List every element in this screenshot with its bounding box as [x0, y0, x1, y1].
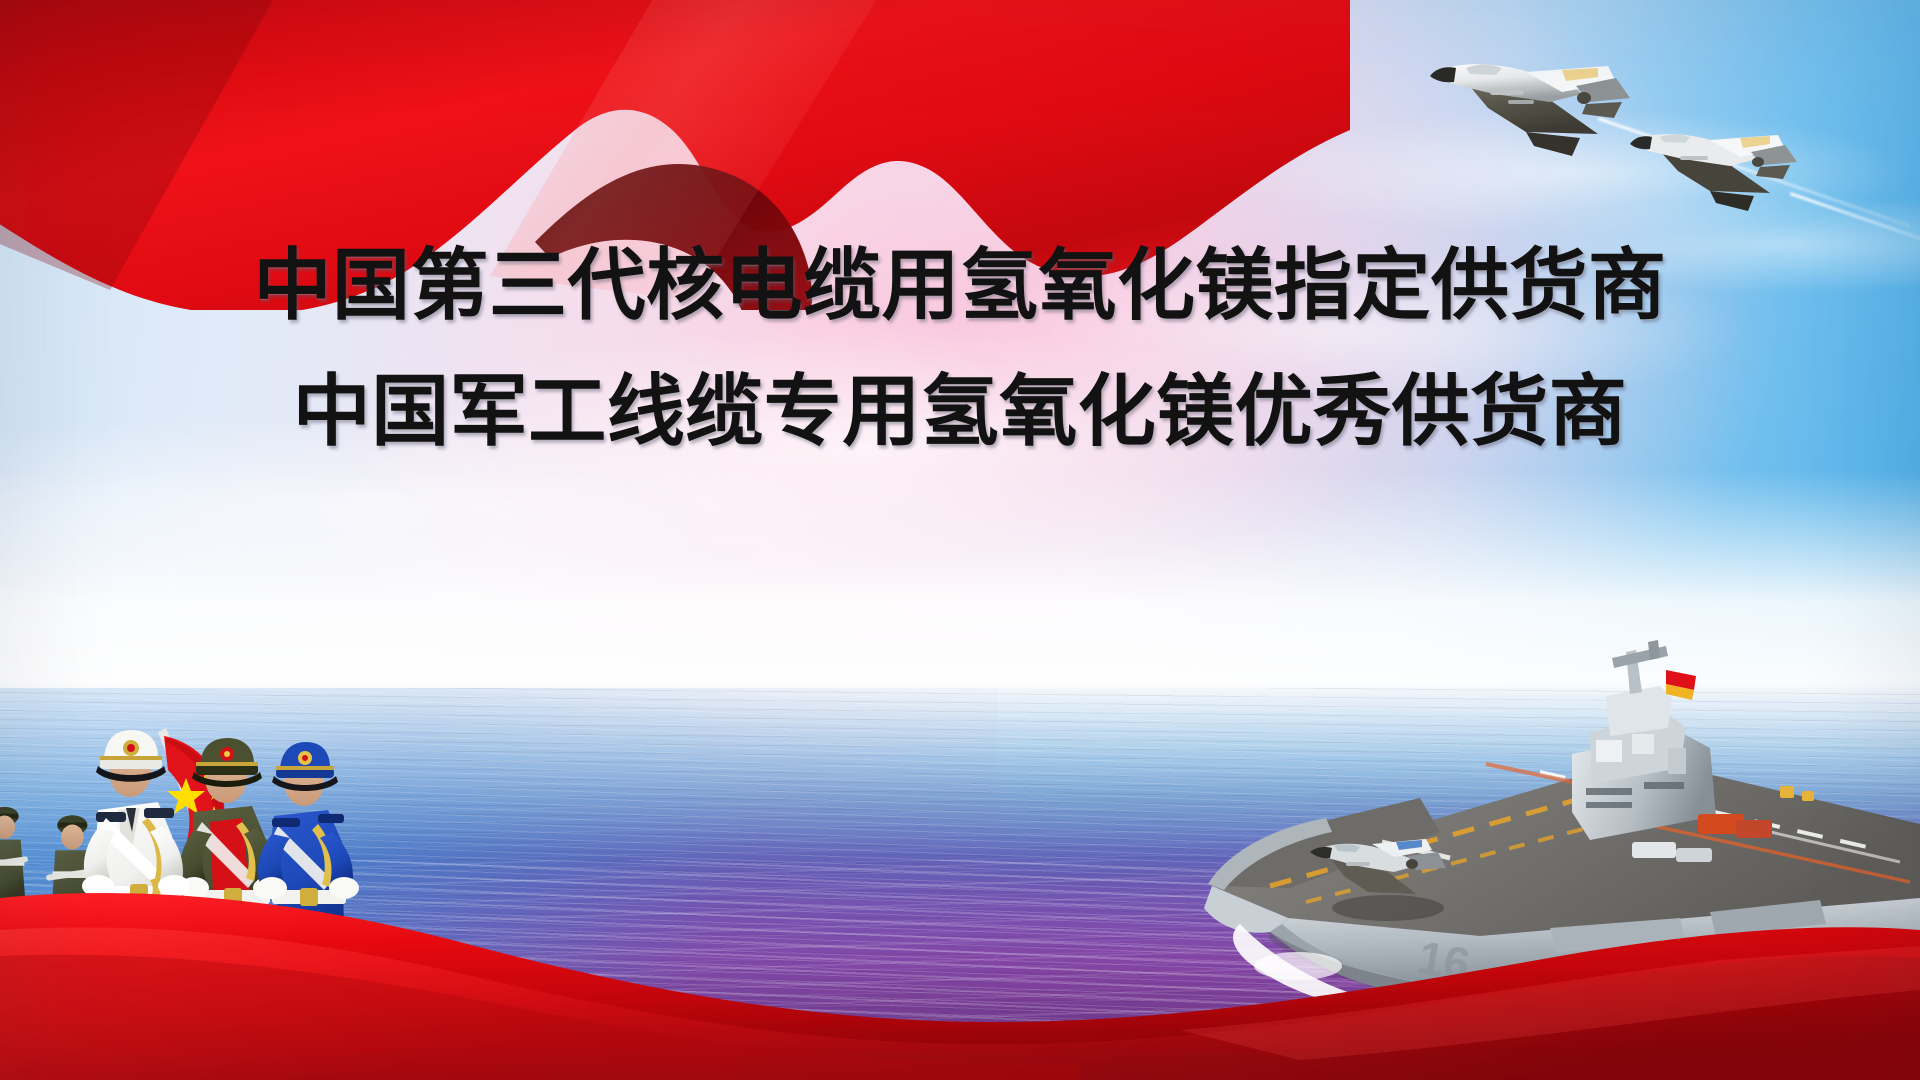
title-line-1: 中国第三代核电缆用氢氧化镁指定供货商: [0, 246, 1920, 324]
title-line-2: 中国军工线缆专用氢氧化镁优秀供货商: [0, 372, 1920, 450]
navy-officer-white-uniform: [82, 730, 190, 1070]
promotional-banner: 16: [0, 0, 1920, 1080]
aircraft-carrier-liaoning: 16: [1120, 636, 1920, 1056]
honor-guard-marching: [0, 672, 540, 1080]
title-block: 中国第三代核电缆用氢氧化镁指定供货商 中国军工线缆专用氢氧化镁优秀供货商: [0, 246, 1920, 450]
fighter-jet-wingman: [1630, 115, 1820, 227]
fighter-jet-lead: [1430, 42, 1660, 177]
svg-text:16: 16: [1414, 931, 1473, 991]
